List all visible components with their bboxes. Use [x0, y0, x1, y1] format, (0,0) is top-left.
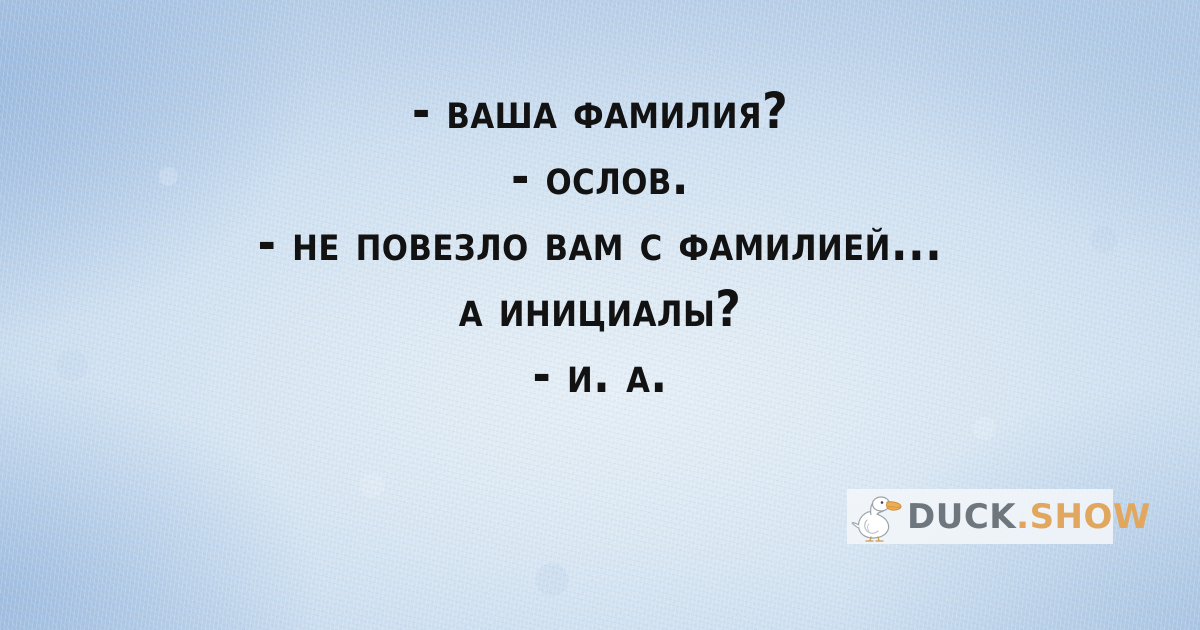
wordmark-dot: . [1016, 497, 1029, 537]
joke-text-block: - Ваша фамилия? - Ослов. - Не повезло ва… [72, 78, 1128, 408]
wordmark-duck: DUCK [907, 497, 1016, 537]
joke-card: - Ваша фамилия? - Ослов. - Не повезло ва… [0, 0, 1200, 630]
joke-line-4: а инициалы? [72, 276, 1128, 342]
joke-line-2: - Ослов. [72, 144, 1128, 210]
joke-line-1: - Ваша фамилия? [72, 78, 1128, 144]
wordmark-show: SHOW [1030, 497, 1151, 537]
duck-logo-icon [851, 492, 903, 542]
watermark-logo[interactable]: DUCK.SHOW [847, 489, 1113, 544]
joke-line-3: - Не повезло вам с фамилией... [72, 210, 1128, 276]
watermark-wordmark: DUCK.SHOW [907, 500, 1151, 534]
joke-line-5: - И. А. [72, 342, 1128, 408]
